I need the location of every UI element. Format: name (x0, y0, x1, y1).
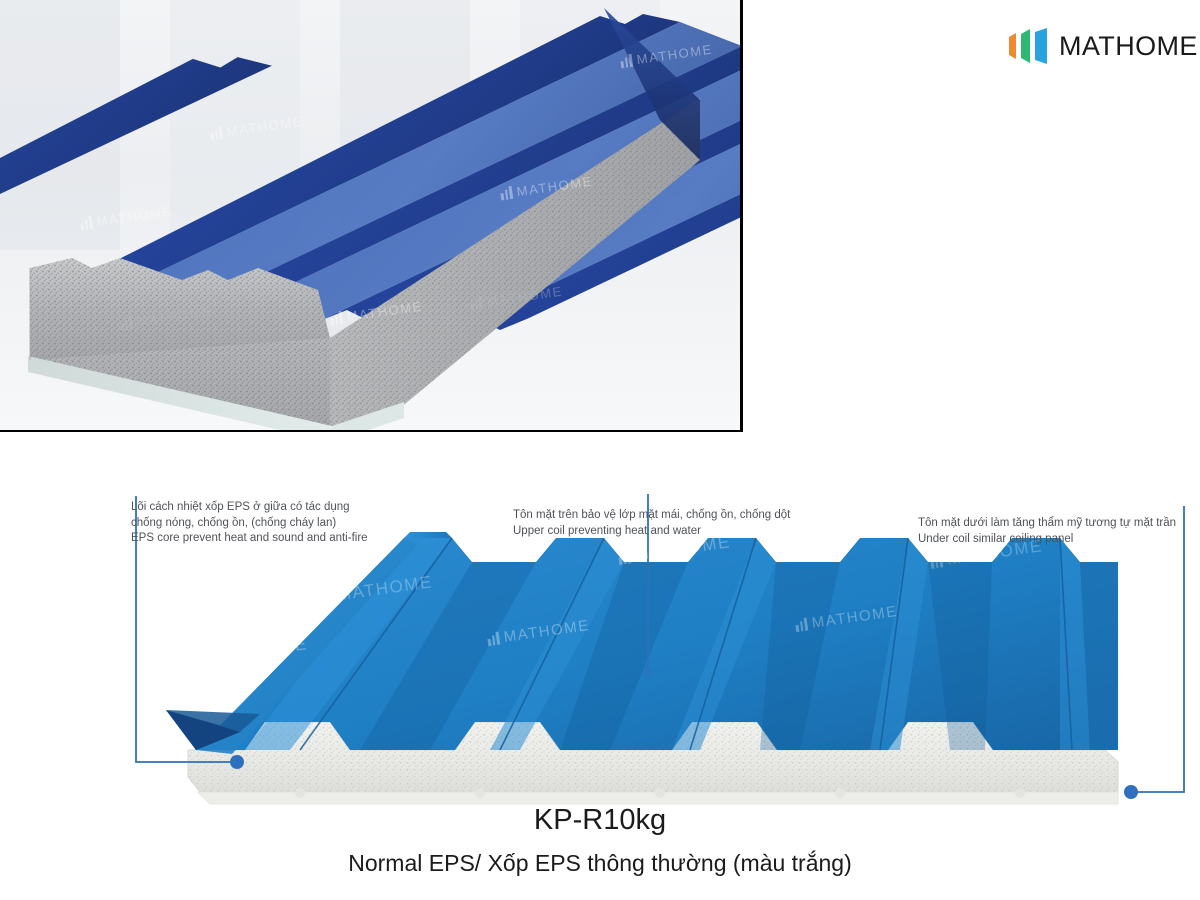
annotation-under-coil: Tôn mặt dưới làm tăng thẩm mỹ tương tự m… (918, 516, 1176, 547)
panel-model-subtitle: Normal EPS/ Xốp EPS thông thường (màu tr… (0, 850, 1200, 877)
panel-cross-section-diagram: MATHOME MATHOME MATHOME MATHOME MATHOME … (0, 432, 1200, 900)
annotation-eps-core-line-3: EPS core prevent heat and sound and anti… (131, 531, 368, 547)
panel-model-title: KP-R10kg (0, 804, 1200, 837)
annotation-under-coil-line-2: Under coil similar ceiling panel (918, 532, 1176, 548)
mathome-logo-mark-icon (1007, 27, 1049, 65)
sandwich-panel-3d-illustration (0, 0, 740, 430)
annotation-eps-core-line-1: Lõi cách nhiệt xốp EPS ở giữa có tác dụn… (131, 500, 368, 516)
annotation-eps-core: Lõi cách nhiệt xốp EPS ở giữa có tác dụn… (131, 500, 368, 547)
annotation-under-coil-line-1: Tôn mặt dưới làm tăng thẩm mỹ tương tự m… (918, 516, 1176, 532)
annotation-upper-coil-line-2: Upper coil preventing heat and water (513, 524, 790, 540)
leader-line-right (1136, 506, 1184, 792)
annotation-upper-coil-line-1: Tôn mặt trên bảo vệ lớp mặt mái, chống ồ… (513, 508, 790, 524)
leader-dot-left (230, 755, 244, 769)
leader-dot-middle (644, 668, 653, 677)
annotation-upper-coil: Tôn mặt trên bảo vệ lớp mặt mái, chống ồ… (513, 508, 790, 539)
mathome-logo-text: MATHOME (1059, 31, 1198, 62)
product-photo-panel: MATHOME MATHOME MATHOME MATHOME MATHOME … (0, 0, 743, 433)
leader-dot-right (1124, 785, 1138, 799)
annotation-eps-core-line-2: chống nóng, chống ồn, (chống cháy lan) (131, 516, 368, 532)
mathome-logo[interactable]: MATHOME (1007, 27, 1198, 65)
